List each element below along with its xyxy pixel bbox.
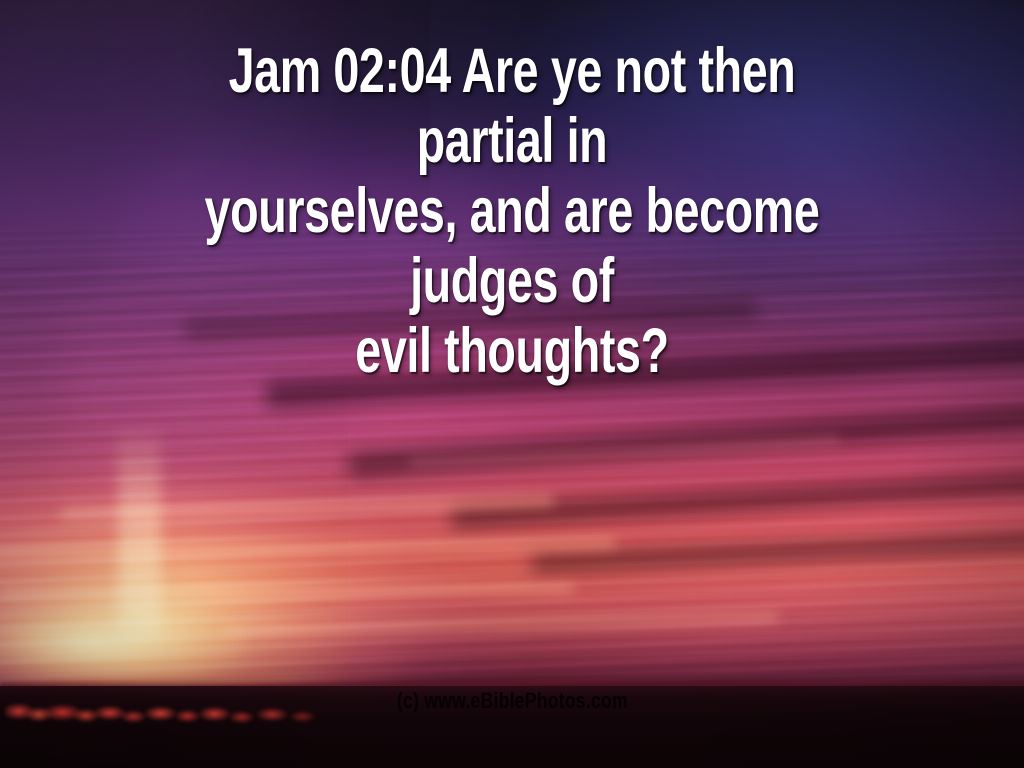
watermark: (c) www.eBiblePhotos.com bbox=[0, 690, 1024, 713]
verse-text: Jam 02:04 Are ye not then partial in you… bbox=[172, 36, 853, 386]
verse-overlay: Jam 02:04 Are ye not then partial in you… bbox=[0, 36, 1024, 386]
bible-verse-sunset-image: Jam 02:04 Are ye not then partial in you… bbox=[0, 0, 1024, 768]
watermark-text: (c) www.eBiblePhotos.com bbox=[396, 690, 627, 712]
